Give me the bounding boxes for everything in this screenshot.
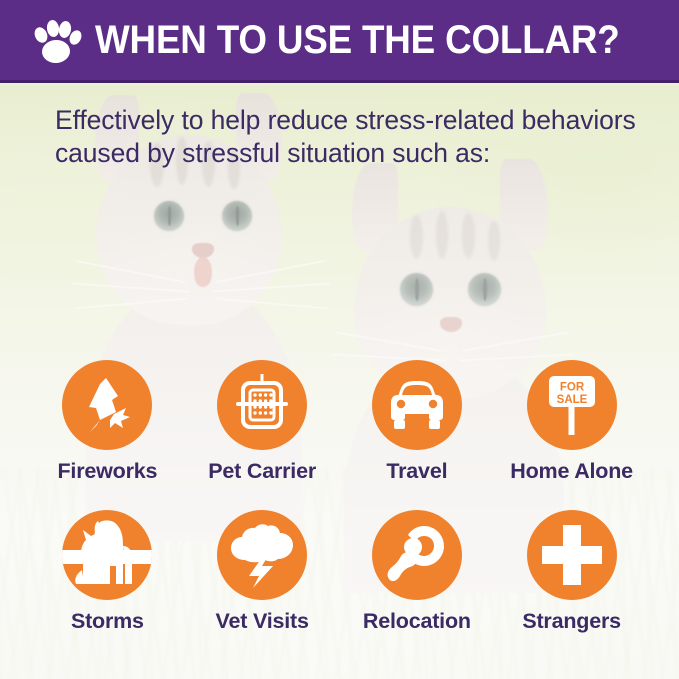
for-sale-sign-icon: FOR SALE — [542, 373, 602, 437]
use-case-label: Vet Visits — [216, 610, 309, 634]
use-case-travel[interactable]: Travel — [340, 360, 495, 484]
use-case-label: Strangers — [522, 610, 621, 634]
subtitle-line-1: Effectively to help reduce stress-relate… — [55, 104, 645, 137]
use-case-fireworks[interactable]: Fireworks — [30, 360, 185, 484]
use-case-label: Relocation — [363, 610, 471, 634]
use-case-vet-visits[interactable]: Vet Visits — [185, 510, 340, 634]
sign-line-1: FOR — [559, 382, 584, 394]
storm-cloud-lightning-icon — [227, 522, 297, 588]
use-case-strangers[interactable]: Strangers — [494, 510, 649, 634]
icon-circle — [62, 360, 152, 450]
icon-circle: FOR SALE — [527, 360, 617, 450]
icon-circle — [372, 510, 462, 600]
icon-circle — [527, 510, 617, 600]
use-case-label: Storms — [71, 610, 144, 634]
use-case-label: Pet Carrier — [208, 460, 316, 484]
icon-circle — [62, 510, 152, 600]
use-case-row-2: Storms Vet Visits — [30, 510, 649, 634]
use-case-label: Home Alone — [510, 460, 633, 484]
use-case-storms[interactable]: Storms — [30, 510, 185, 634]
paw-print-icon — [33, 18, 81, 64]
use-case-pet-carrier[interactable]: Pet Carrier — [185, 360, 340, 484]
icon-circle — [217, 360, 307, 450]
medical-cross-icon — [540, 523, 604, 587]
poster: WHEN TO USE THE COLLAR? Effectively to h… — [0, 0, 679, 679]
icon-circle — [217, 510, 307, 600]
dog-and-cat-icon — [62, 510, 152, 600]
firework-rocket-icon — [76, 374, 138, 436]
use-case-home-alone[interactable]: FOR SALE Home Alone — [494, 360, 649, 484]
sign-line-2: SALE — [556, 394, 587, 406]
pacifier-icon — [384, 522, 450, 588]
page-title: WHEN TO USE THE COLLAR? — [95, 20, 620, 60]
header-bar: WHEN TO USE THE COLLAR? — [0, 0, 679, 83]
use-case-label: Travel — [386, 460, 447, 484]
car-icon — [385, 377, 449, 433]
use-case-label: Fireworks — [57, 460, 157, 484]
subtitle: Effectively to help reduce stress-relate… — [55, 104, 645, 170]
icon-circle — [372, 360, 462, 450]
subtitle-line-2: caused by stressful situation such as: — [55, 137, 645, 170]
use-case-row-1: Fireworks — [30, 360, 649, 484]
use-case-grid: Fireworks — [30, 360, 649, 659]
use-case-relocation[interactable]: Relocation — [340, 510, 495, 634]
pet-carrier-icon — [230, 373, 294, 437]
